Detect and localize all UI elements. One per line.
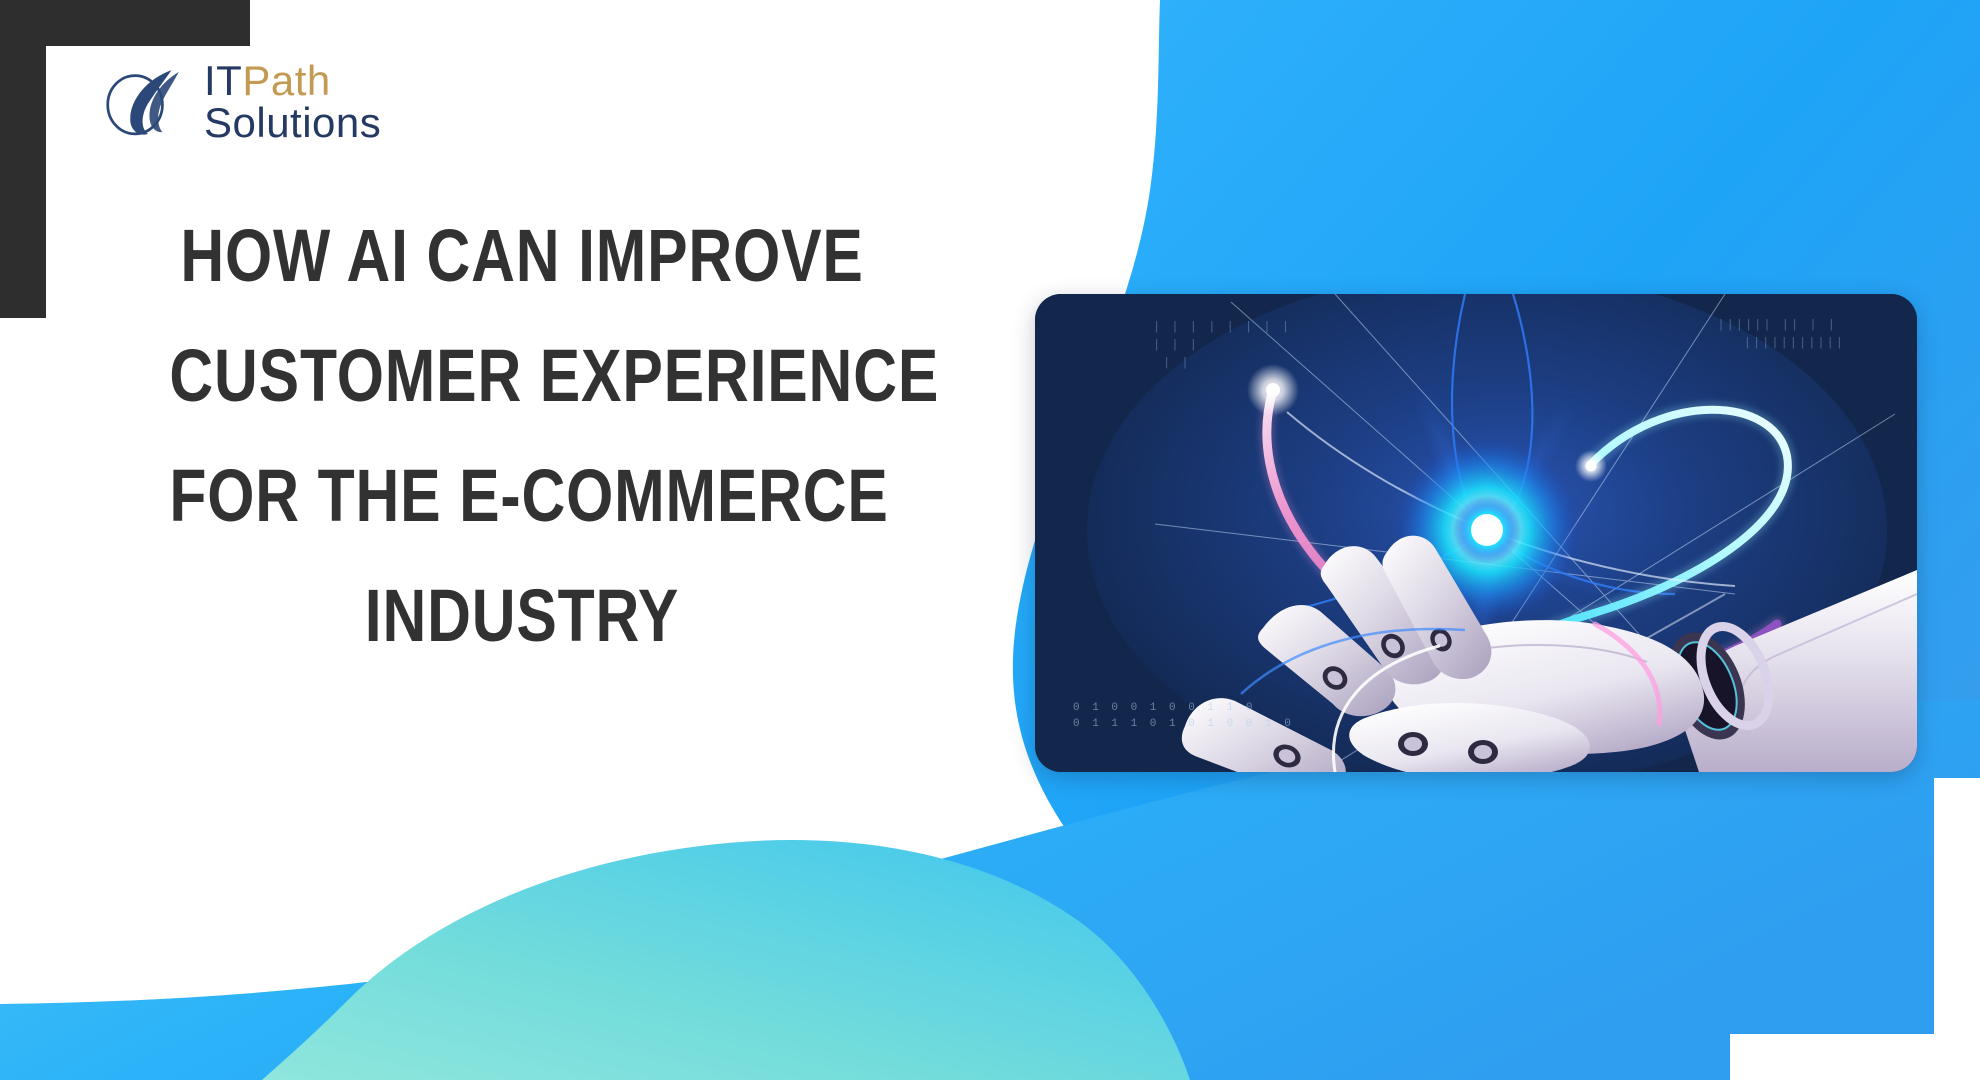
brand-name-it: IT: [204, 57, 242, 104]
binary-overlay-line-2: 0 1 1 1 0 1 0 1 0 0 1 0: [1073, 718, 1294, 730]
page-title: HOW AI CAN IMPROVE CUSTOMER EXPERIENCE F…: [169, 196, 874, 676]
hud-marks-3: | |: [1163, 356, 1191, 370]
robot-hand-atom-image: | | | | | | | | | | | | | |||||| || | | …: [1035, 294, 1917, 772]
hud-marks-1: | | | | | | | |: [1153, 320, 1291, 334]
hud-marks-4: |||||| || | |: [1717, 318, 1837, 332]
poster-canvas: ITPath Solutions HOW AI CAN IMPROVE CUST…: [0, 0, 1980, 1080]
brand-logo[interactable]: ITPath Solutions: [100, 60, 381, 144]
itpath-leaf-mark-icon: [100, 61, 192, 143]
title-line-2: CUSTOMER EXPERIENCE: [169, 316, 874, 436]
brand-wordmark: ITPath Solutions: [204, 60, 381, 144]
title-line-4: INDUSTRY: [169, 556, 874, 676]
brand-name-solutions: Solutions: [204, 102, 381, 144]
hud-marks-2: | | |: [1153, 338, 1199, 352]
binary-overlay-line-1: 0 1 0 0 1 0 0 1 1 0: [1073, 702, 1255, 714]
title-line-1: HOW AI CAN IMPROVE: [169, 196, 874, 316]
hud-marks-5: |||||||||||: [1744, 336, 1845, 350]
title-line-3: FOR THE E-COMMERCE: [169, 436, 874, 556]
corner-accent-left: [0, 0, 46, 318]
corner-notch-bottom: [1730, 1034, 1980, 1080]
brand-name-path: Path: [242, 57, 330, 104]
